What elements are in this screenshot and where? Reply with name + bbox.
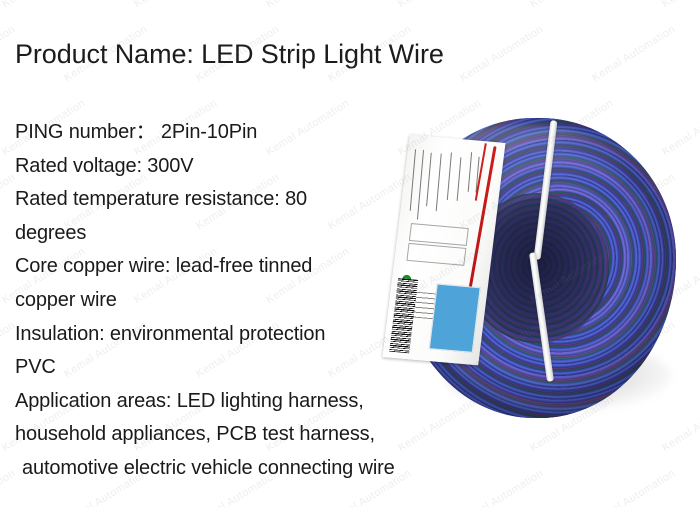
spec-line: household appliances, PCB test harness, <box>15 418 455 452</box>
watermark-text: Kemal Automation <box>458 23 546 84</box>
watermark-text: Kemal Automation <box>458 467 546 507</box>
watermark-text: Kemal Automation <box>132 0 220 10</box>
spec-line: copper wire <box>15 284 455 318</box>
page-title: Product Name: LED Strip Light Wire <box>15 38 444 70</box>
specification-list: PING number： 2Pin-10Pin Rated voltage: 3… <box>15 116 455 486</box>
spec-line: Rated voltage: 300V <box>15 150 455 184</box>
spec-line: Application areas: LED lighting harness, <box>15 385 455 419</box>
spec-line: degrees <box>15 217 455 251</box>
watermark-text: Kemal Automation <box>396 0 484 10</box>
spec-line: Core copper wire: lead-free tinned <box>15 250 455 284</box>
spec-line: automotive electric vehicle connecting w… <box>15 452 455 486</box>
watermark-text: Kemal Automation <box>0 0 88 10</box>
spec-line: Rated temperature resistance: 80 <box>15 183 455 217</box>
watermark-text: Kemal Automation <box>264 0 352 10</box>
watermark-text: Kemal Automation <box>590 23 678 84</box>
product-info-graphic: Product Name: LED Strip Light Wire PING … <box>0 0 700 507</box>
spec-line: PVC <box>15 351 455 385</box>
spec-line: Insulation: environmental protection <box>15 318 455 352</box>
watermark-text: Kemal Automation <box>528 0 616 10</box>
watermark-text: Kemal Automation <box>590 467 678 507</box>
watermark-text: Kemal Automation <box>660 0 700 10</box>
spec-line: PING number： 2Pin-10Pin <box>15 116 455 150</box>
